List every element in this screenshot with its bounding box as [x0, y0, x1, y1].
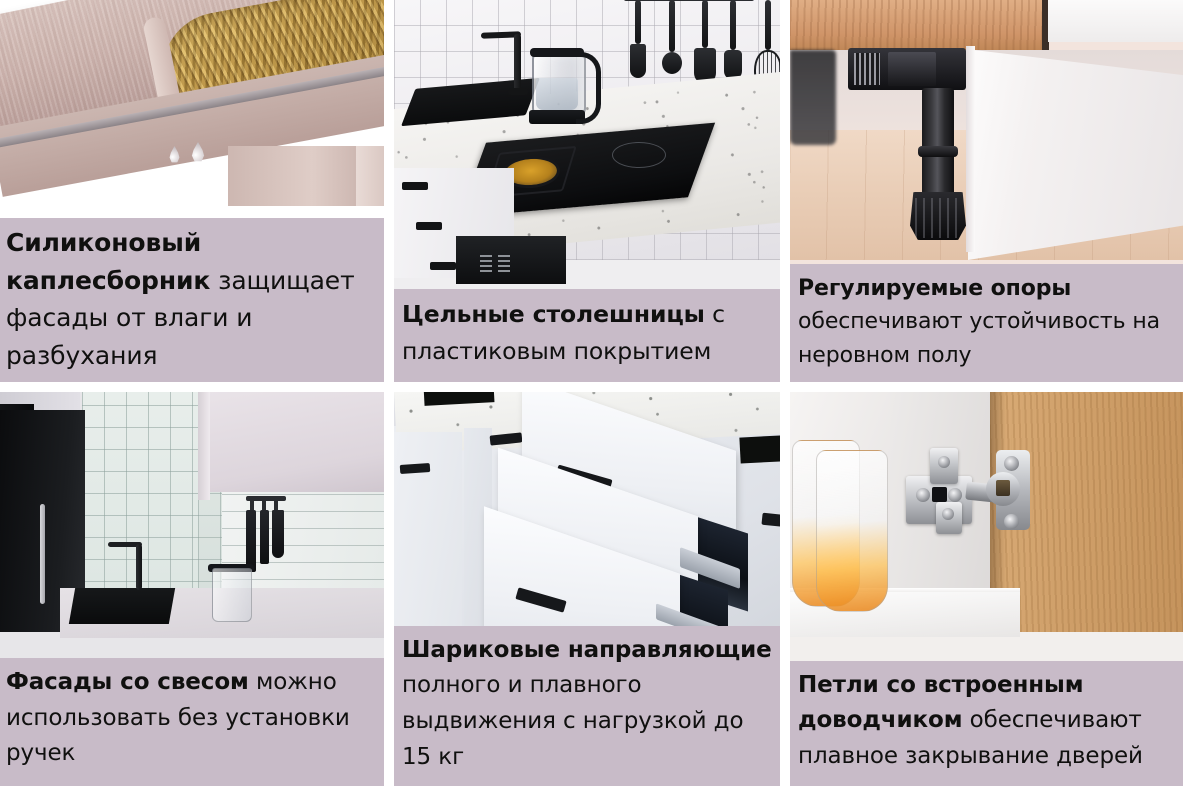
drawer-handle: [402, 182, 428, 190]
hinge-screw-icon: [1004, 514, 1019, 529]
grid-gutter-horizontal: [0, 382, 1183, 392]
feature-grid: Силиконовый каплесборник защищает фасады…: [0, 0, 1183, 786]
utensil-turner-icon: [694, 0, 716, 84]
hanging-utensil: [246, 510, 256, 572]
feature-title: Фасады со свесом: [6, 669, 249, 695]
drawer-handle: [430, 262, 456, 270]
leg-foot: [910, 192, 966, 240]
feature-title: Шариковые направляющие: [402, 637, 772, 663]
feature-card-overhang-fronts[interactable]: Фасады со свесом можно использовать без …: [0, 392, 384, 786]
hinge-screw-icon: [916, 488, 930, 502]
leg-clip: [888, 52, 936, 86]
utensil-spoon-icon: [724, 0, 742, 80]
grid-gutter-vertical: [384, 392, 394, 786]
hinge-screw-icon: [942, 508, 954, 520]
cabinet-side-panel: [356, 146, 384, 206]
hanging-utensil: [260, 510, 269, 564]
feature-card-ball-bearing-slides[interactable]: Шариковые направляющие полного и плавног…: [394, 392, 780, 786]
oven-control-panel: [498, 254, 510, 272]
glass-kettle: [212, 568, 252, 622]
plinth-edge: [966, 46, 975, 252]
wall-cabinet-side: [198, 392, 210, 500]
white-cabinet-bottom: [1048, 0, 1183, 42]
tall-unit-handle: [40, 504, 45, 604]
feature-title: Силиконовый каплесборник: [6, 228, 210, 295]
hinge-screw-icon: [948, 488, 962, 502]
utensil-ladle-icon: [662, 0, 682, 74]
feature-caption: Фасады со свесом можно использовать без …: [0, 658, 384, 786]
drawer-handle: [416, 222, 442, 230]
feature-card-soft-close-hinges[interactable]: Петли со встроенным доводчиком обеспечив…: [790, 392, 1183, 786]
hanging-utensil: [272, 510, 284, 558]
glass-front: [816, 450, 888, 612]
feature-caption: Цельные столешницы с пластиковым покрыти…: [394, 289, 780, 382]
feature-description: обеспечивают устойчивость на неровном по…: [798, 309, 1160, 367]
leg-adjustment-ring: [918, 146, 958, 157]
feature-card-solid-worktops[interactable]: Цельные столешницы с пластиковым покрыти…: [394, 0, 780, 382]
feature-caption: Шариковые направляющие полного и плавног…: [394, 626, 780, 786]
feature-title: Цельные столешницы: [402, 300, 705, 328]
hinge-adjust-slot: [932, 487, 947, 502]
kettle-handle: [576, 52, 601, 124]
built-in-oven: [456, 236, 566, 284]
feature-card-silicone-drip-catcher[interactable]: Силиконовый каплесборник защищает фасады…: [0, 0, 384, 382]
wall-cabinet: [206, 392, 384, 492]
plinth-panel: [968, 45, 1183, 260]
cooktop-burner-ring: [612, 142, 666, 168]
faucet-column: [514, 34, 521, 92]
kettle-water: [536, 78, 578, 110]
hinge-screw-icon: [1004, 456, 1019, 471]
feature-caption: Силиконовый каплесборник защищает фасады…: [0, 218, 384, 382]
wood-cabinet-bottom: [790, 0, 1048, 50]
cabinet-front-panel: [228, 146, 368, 206]
faucet-base: [508, 88, 528, 95]
faucet-column: [136, 544, 142, 590]
grid-gutter-vertical: [384, 0, 394, 382]
feature-card-adjustable-legs[interactable]: Регулируемые опоры обеспечивают устойчив…: [790, 0, 1183, 382]
sink-basin: [69, 588, 175, 624]
background-leg: [790, 50, 836, 145]
grid-gutter-vertical: [780, 0, 790, 382]
hinge-screw-icon: [938, 456, 950, 468]
oven-control-panel: [480, 252, 492, 272]
cooktop-panel: [739, 434, 780, 463]
feature-caption: Петли со встроенным доводчиком обеспечив…: [790, 661, 1183, 786]
feature-description: полного и плавного выдвижения с нагрузко…: [402, 672, 743, 770]
hinge-pivot: [996, 480, 1010, 496]
utensil-spatula-icon: [630, 0, 646, 78]
feature-caption: Регулируемые опоры обеспечивают устойчив…: [790, 264, 1183, 382]
feature-title: Регулируемые опоры: [798, 276, 1071, 301]
grid-gutter-vertical: [780, 392, 790, 786]
